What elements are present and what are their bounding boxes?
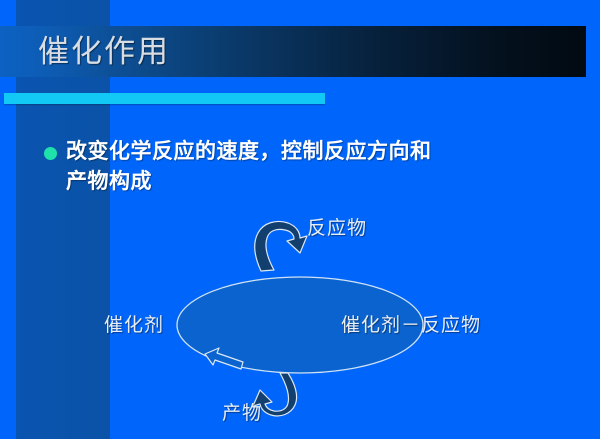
cycle-direction-arrow [205, 348, 243, 369]
bullet-text-block: 改变化学反应的速度，控制反应方向和 产物构成 [66, 136, 560, 196]
diagram-label-catalyst-reactant-complex: 催化剂－反应物 [341, 310, 481, 337]
reactant-inflow-arrow [255, 221, 307, 271]
bullet-text-line-2: 产物构成 [66, 166, 560, 196]
diagram-label-product: 产物 [222, 398, 262, 425]
bullet-marker-icon [44, 147, 57, 160]
page-title: 催化作用 [38, 27, 170, 77]
diagram-label-catalyst: 催化剂 [104, 310, 164, 337]
accent-divider-bar [4, 93, 325, 104]
bullet-text-line-1: 改变化学反应的速度，控制反应方向和 [66, 139, 432, 163]
diagram-label-reactant: 反应物 [307, 213, 367, 240]
slide-canvas: 催化作用 改变化学反应的速度，控制反应方向和 产物构成 反应物 产物 催化剂 催… [0, 0, 600, 439]
bullet-list-item: 改变化学反应的速度，控制反应方向和 产物构成 [40, 136, 560, 196]
